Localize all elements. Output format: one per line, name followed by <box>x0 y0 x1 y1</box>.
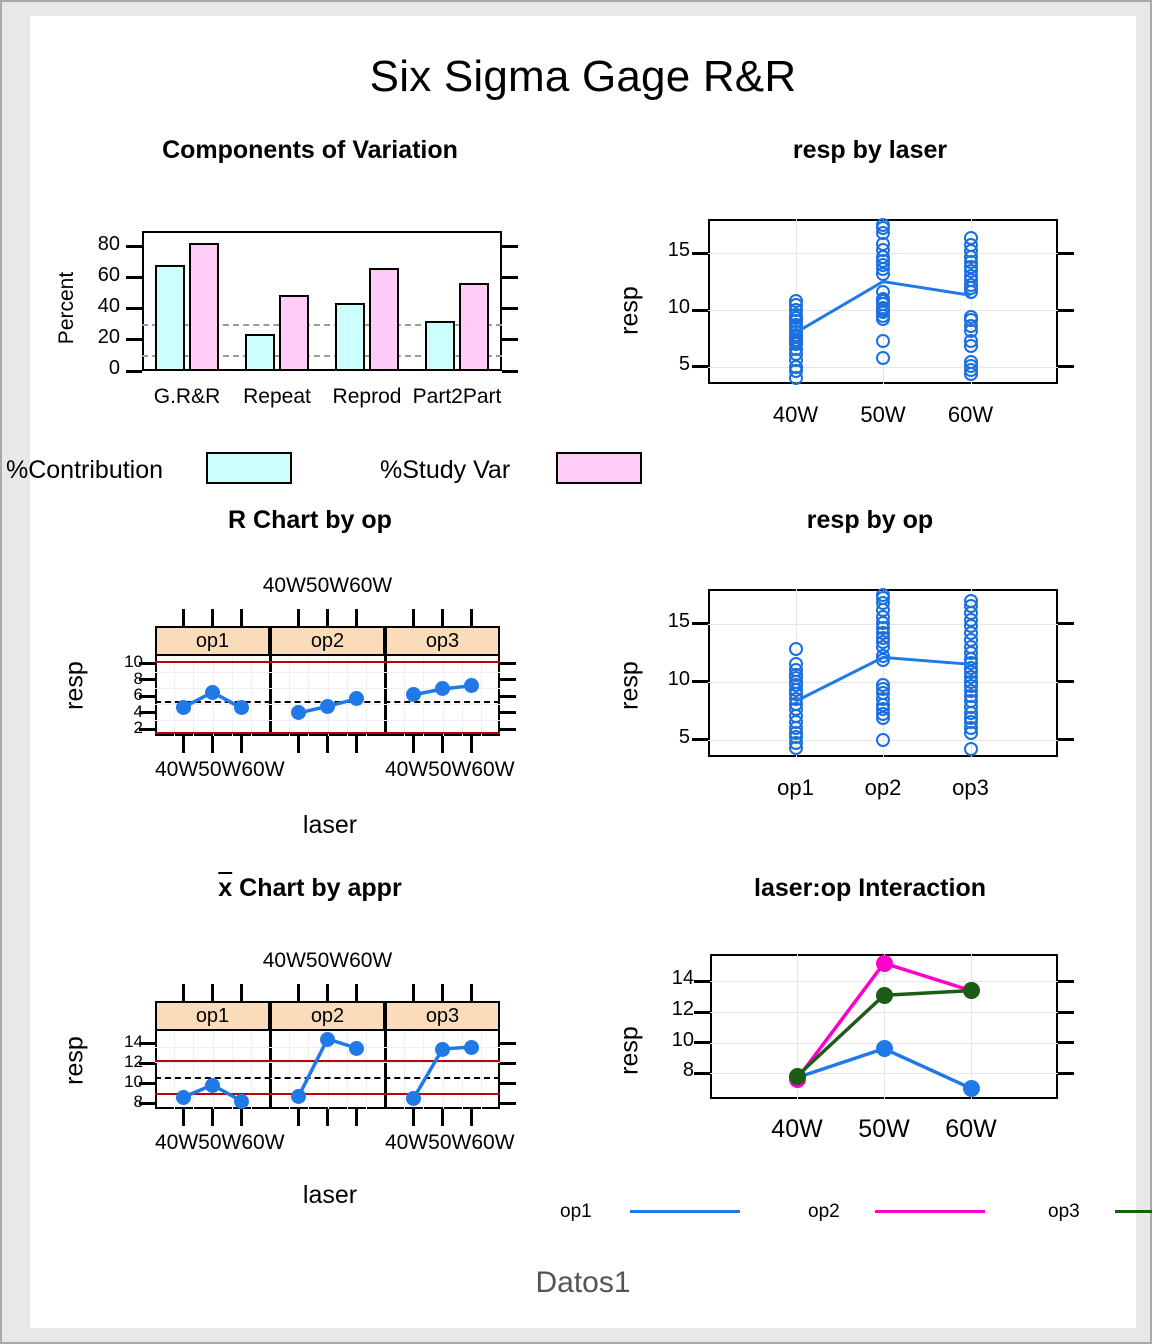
resp-by-op-xtick-label: op3 <box>911 775 1031 801</box>
cov-ytick <box>126 370 142 373</box>
r-chart-xtick-top <box>297 609 300 626</box>
xbar-chart-xtick-bottom <box>297 1109 300 1126</box>
xbar-chart-xtick-top <box>211 984 214 1001</box>
interaction-ytick-right <box>1058 980 1074 983</box>
cov-ytick-right <box>502 338 518 341</box>
resp-by-op-ytick-label: 15 <box>628 610 690 633</box>
xbar-chart-xtick-bottom <box>240 1109 243 1126</box>
r-chart-xtick-top <box>211 609 214 626</box>
xbar-chart-xtick-bottom <box>182 1109 185 1126</box>
xbar-chart-xtick-bottom <box>211 1109 214 1126</box>
xbar-chart-xtick-bottom <box>355 1109 358 1126</box>
xbar-chart-title: x Chart by appr <box>90 874 530 903</box>
interaction-data-point <box>876 1040 893 1057</box>
resp-by-laser-ytick-right <box>1058 252 1074 255</box>
resp-by-laser-ytick-right <box>1058 309 1074 312</box>
cov-bar-contribution <box>155 265 185 371</box>
interaction-data-point <box>876 987 893 1004</box>
cov-ytick <box>126 307 142 310</box>
r-chart-xtick-bottom <box>355 736 358 753</box>
cov-bar-study-var <box>369 268 399 371</box>
r-chart-data-point <box>464 678 479 693</box>
interaction-ytick-label: 8 <box>638 1059 694 1082</box>
resp-by-op-plot: 51015op1op2op3 <box>708 589 1058 757</box>
cov-ytick-label: 80 <box>56 233 120 256</box>
resp-by-laser-ytick <box>692 365 708 368</box>
cov-ytick-right <box>502 276 518 279</box>
r-chart-ytick-right <box>500 662 516 665</box>
legend-swatch-study-var <box>556 452 642 484</box>
r-chart-xtick-bottom <box>326 736 329 753</box>
r-chart-ytick-right <box>500 711 516 714</box>
r-chart-y-label: resp <box>61 631 90 741</box>
interaction-ytick-label: 12 <box>638 998 694 1021</box>
interaction-legend-line-op3 <box>1115 1210 1152 1213</box>
xbar-title-rest: Chart by appr <box>232 874 401 902</box>
r-chart-xtick-top <box>182 609 185 626</box>
interaction-data-point <box>876 955 893 972</box>
interaction-ytick-right <box>1058 1041 1074 1044</box>
interaction-legend-line-op2 <box>875 1210 985 1213</box>
r-chart-xtick-top <box>326 609 329 626</box>
r-chart-xtick-bottom <box>470 736 473 753</box>
page-title: Six Sigma Gage R&R <box>30 52 1136 102</box>
xbar-chart-ytick-label: 14 <box>93 1032 143 1052</box>
interaction-plot: 810121440W50W60W <box>710 954 1058 1099</box>
resp-by-laser-ytick-right <box>1058 365 1074 368</box>
r-chart-ytick-label: 10 <box>93 652 143 672</box>
xbar-chart-x-label: laser <box>220 1181 440 1210</box>
r-chart-xtick-bottom <box>441 736 444 753</box>
resp-by-op-ytick-right <box>1058 738 1074 741</box>
interaction-ytick <box>694 1041 710 1044</box>
resp-by-op-ytick-label: 5 <box>628 726 690 749</box>
interaction-ytick <box>694 980 710 983</box>
resp-by-laser-ytick <box>692 309 708 312</box>
resp-by-op-ytick <box>692 680 708 683</box>
interaction-ytick-right <box>1058 1011 1074 1014</box>
xbar-chart-ytick-label: 8 <box>93 1092 143 1112</box>
interaction-title: laser:op Interaction <box>640 874 1100 903</box>
report-page: Six Sigma Gage R&R Components of Variati… <box>0 0 1152 1344</box>
report-caption: Datos1 <box>30 1266 1136 1300</box>
interaction-data-point <box>963 982 980 999</box>
resp-by-op-ytick <box>692 622 708 625</box>
xbar-symbol: x <box>218 874 232 902</box>
interaction-legend-line-op1 <box>630 1210 740 1213</box>
xbar-chart-xtick-top <box>326 984 329 1001</box>
xbar-chart-xtick-top <box>297 984 300 1001</box>
series-line <box>155 1001 500 1109</box>
interaction-data-point <box>789 1068 806 1085</box>
r-chart-xtick-bottom <box>211 736 214 753</box>
r-chart-ytick-right <box>500 695 516 698</box>
r-chart-title: R Chart by op <box>90 506 530 535</box>
cov-bar-study-var <box>279 295 309 371</box>
r-chart-xtick-bottom <box>240 736 243 753</box>
interaction-ytick-label: 14 <box>638 967 694 990</box>
cov-ytick-label: 40 <box>56 295 120 318</box>
r-chart-x-label: laser <box>220 811 440 840</box>
r-chart-bottom-category-labels: 40W50W60W <box>155 758 270 782</box>
resp-by-op-ytick-label: 10 <box>628 668 690 691</box>
xbar-chart-xtick-top <box>470 984 473 1001</box>
cov-ytick-label: 20 <box>56 326 120 349</box>
components-of-variation-title: Components of Variation <box>90 136 530 165</box>
cov-ytick-label: 0 <box>56 357 120 380</box>
xbar-chart-ytick-right <box>500 1062 516 1065</box>
r-chart-top-category-labels: 40W50W60W <box>248 574 408 598</box>
r-chart-plot: op1op2op324681040W50W60W40W50W60W40W50W6… <box>155 626 500 736</box>
r-chart-xtick-top <box>470 609 473 626</box>
xbar-chart-ytick-label: 12 <box>93 1052 143 1072</box>
xbar-chart-xtick-top <box>355 984 358 1001</box>
cov-bar-contribution <box>425 321 455 371</box>
r-chart-ytick-right <box>500 678 516 681</box>
interaction-legend-label-op3: op3 <box>1048 1201 1080 1223</box>
xbar-chart-ytick-label: 10 <box>93 1072 143 1092</box>
xbar-chart-xtick-bottom <box>326 1109 329 1126</box>
xbar-chart-xtick-top <box>441 984 444 1001</box>
r-chart-xtick-top <box>412 609 415 626</box>
resp-by-laser-ytick <box>692 252 708 255</box>
interaction-xtick-label: 60W <box>911 1115 1031 1144</box>
xbar-chart-data-point <box>435 1042 450 1057</box>
r-chart-bottom-category-labels: 40W50W60W <box>385 758 500 782</box>
cov-ytick <box>126 245 142 248</box>
r-chart-xtick-bottom <box>297 736 300 753</box>
r-chart-xtick-top <box>441 609 444 626</box>
series-line <box>155 626 500 736</box>
resp-by-op-ytick <box>692 738 708 741</box>
report-sheet: Six Sigma Gage R&R Components of Variati… <box>30 16 1136 1328</box>
legend-label-contribution: %Contribution <box>6 456 163 485</box>
cov-bar-contribution <box>245 334 275 371</box>
xbar-chart-xtick-top <box>240 984 243 1001</box>
interaction-legend-label-op1: op1 <box>560 1201 592 1223</box>
cov-ytick-right <box>502 307 518 310</box>
xbar-chart-bottom-category-labels: 40W50W60W <box>155 1131 270 1155</box>
xbar-chart-ytick-right <box>500 1082 516 1085</box>
series-line <box>708 219 1058 384</box>
resp-by-laser-ytick-label: 10 <box>628 296 690 319</box>
xbar-chart-xtick-top <box>412 984 415 1001</box>
xbar-chart-xtick-top <box>182 984 185 1001</box>
cov-bar-study-var <box>459 283 489 371</box>
xbar-chart-data-point <box>406 1091 421 1106</box>
interaction-data-point <box>963 1080 980 1097</box>
resp-by-op-title: resp by op <box>640 506 1100 535</box>
series-line <box>710 954 1058 1099</box>
legend-label-study-var: %Study Var <box>380 456 510 485</box>
xbar-chart-ytick-right <box>500 1102 516 1105</box>
xbar-chart-xtick-bottom <box>412 1109 415 1126</box>
r-chart-xtick-bottom <box>182 736 185 753</box>
xbar-chart-bottom-category-labels: 40W50W60W <box>385 1131 500 1155</box>
xbar-chart-plot: op1op2op3810121440W50W60W40W50W60W40W50W… <box>155 1001 500 1109</box>
resp-by-laser-ytick-label: 15 <box>628 239 690 262</box>
resp-by-laser-plot: 5101540W50W60W <box>708 219 1058 384</box>
xbar-chart-xtick-bottom <box>441 1109 444 1126</box>
resp-by-laser-xtick-label: 60W <box>911 402 1031 428</box>
r-chart-ytick-right <box>500 728 516 731</box>
xbar-chart-top-category-labels: 40W50W60W <box>248 949 408 973</box>
xbar-chart-xtick-bottom <box>470 1109 473 1126</box>
cov-ytick <box>126 276 142 279</box>
cov-bar-study-var <box>189 243 219 371</box>
components-of-variation-plot: 020406080G.R&RRepeatReprodPart2Part <box>142 231 502 371</box>
r-chart-xtick-bottom <box>412 736 415 753</box>
resp-by-laser-title: resp by laser <box>640 136 1100 165</box>
interaction-legend-label-op2: op2 <box>808 1201 840 1223</box>
interaction-ytick-label: 10 <box>638 1029 694 1052</box>
cov-ytick <box>126 338 142 341</box>
cov-ytick-right <box>502 370 518 373</box>
interaction-ytick <box>694 1072 710 1075</box>
cov-ytick-right <box>502 245 518 248</box>
interaction-ytick-right <box>1058 1072 1074 1075</box>
resp-by-laser-ytick-label: 5 <box>628 353 690 376</box>
cov-bar-contribution <box>335 303 365 371</box>
resp-by-op-ytick-right <box>1058 622 1074 625</box>
legend-swatch-contribution <box>206 452 292 484</box>
cov-ytick-label: 60 <box>56 264 120 287</box>
interaction-ytick <box>694 1011 710 1014</box>
series-line <box>708 589 1058 757</box>
resp-by-op-ytick-right <box>1058 680 1074 683</box>
cov-xtick-label: Part2Part <box>397 385 517 409</box>
r-chart-xtick-top <box>240 609 243 626</box>
r-chart-xtick-top <box>355 609 358 626</box>
xbar-chart-y-label: resp <box>61 1006 90 1116</box>
xbar-chart-ytick-right <box>500 1042 516 1045</box>
xbar-chart-data-point <box>464 1040 479 1055</box>
